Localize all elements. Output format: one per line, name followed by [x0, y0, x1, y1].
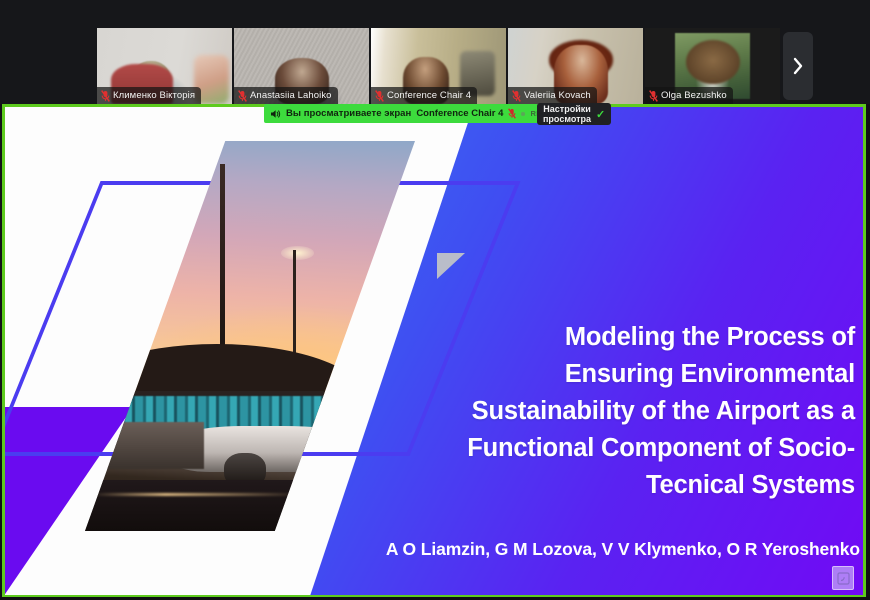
speaker-icon	[270, 109, 281, 119]
presentation-slide: Modeling the Process of Ensuring Environ…	[5, 107, 863, 595]
participant-tile[interactable]: Olga Bezushko	[645, 28, 780, 104]
view-settings-label-line1: Настройки	[543, 104, 590, 114]
participant-nameplate: Клименко Вікторія	[97, 87, 201, 104]
mic-muted-icon	[375, 90, 384, 102]
shared-screen-viewport[interactable]: Modeling the Process of Ensuring Environ…	[2, 104, 866, 598]
share-presenter-name: Conference Chair 4	[416, 108, 503, 119]
mic-muted-icon	[508, 108, 516, 119]
participant-name: Клименко Вікторія	[113, 90, 195, 101]
participant-nameplate: Anastasiia Lahoiko	[234, 87, 338, 104]
view-settings-button[interactable]: Настройки просмотра ✓	[537, 103, 611, 125]
participant-name: Conference Chair 4	[387, 90, 471, 101]
participant-filmstrip: Клименко Вікторія Anastasiia Lahoiko	[0, 0, 870, 104]
screen-share-status-bar: Вы просматриваете экран Conference Chair…	[264, 104, 553, 123]
participant-name: Anastasiia Lahoiko	[250, 90, 332, 101]
participant-tile[interactable]: Anastasiia Lahoiko	[234, 28, 369, 104]
participant-name: Valeriia Kovach	[524, 90, 591, 101]
slide-title: Modeling the Process of Ensuring Environ…	[455, 319, 855, 504]
slide-authors: A O Liamzin, G M Lozova, V V Klymenko, O…	[260, 539, 860, 560]
chevron-right-icon[interactable]	[783, 32, 813, 100]
mic-muted-icon	[649, 90, 658, 102]
view-settings-label-line2: просмотра	[543, 114, 591, 124]
resize-handle-icon[interactable]	[832, 566, 854, 590]
mic-muted-icon	[512, 90, 521, 102]
mic-muted-icon	[101, 90, 110, 102]
participant-nameplate: Conference Chair 4	[371, 87, 477, 104]
participant-name: Olga Bezushko	[661, 90, 727, 101]
mic-muted-icon	[238, 90, 247, 102]
view-settings-label: Настройки просмотра	[543, 104, 591, 124]
share-message: Вы просматриваете экран	[286, 108, 411, 119]
participant-tile-active-speaker[interactable]: Valeriia Kovach	[508, 28, 643, 104]
participant-nameplate: Valeriia Kovach	[508, 87, 597, 104]
participant-tile[interactable]: Conference Chair 4	[371, 28, 506, 104]
check-icon: ✓	[596, 108, 605, 121]
participant-tile[interactable]: Клименко Вікторія	[97, 28, 232, 104]
participant-nameplate: Olga Bezushko	[645, 87, 733, 104]
recording-indicator-dot	[521, 112, 525, 116]
